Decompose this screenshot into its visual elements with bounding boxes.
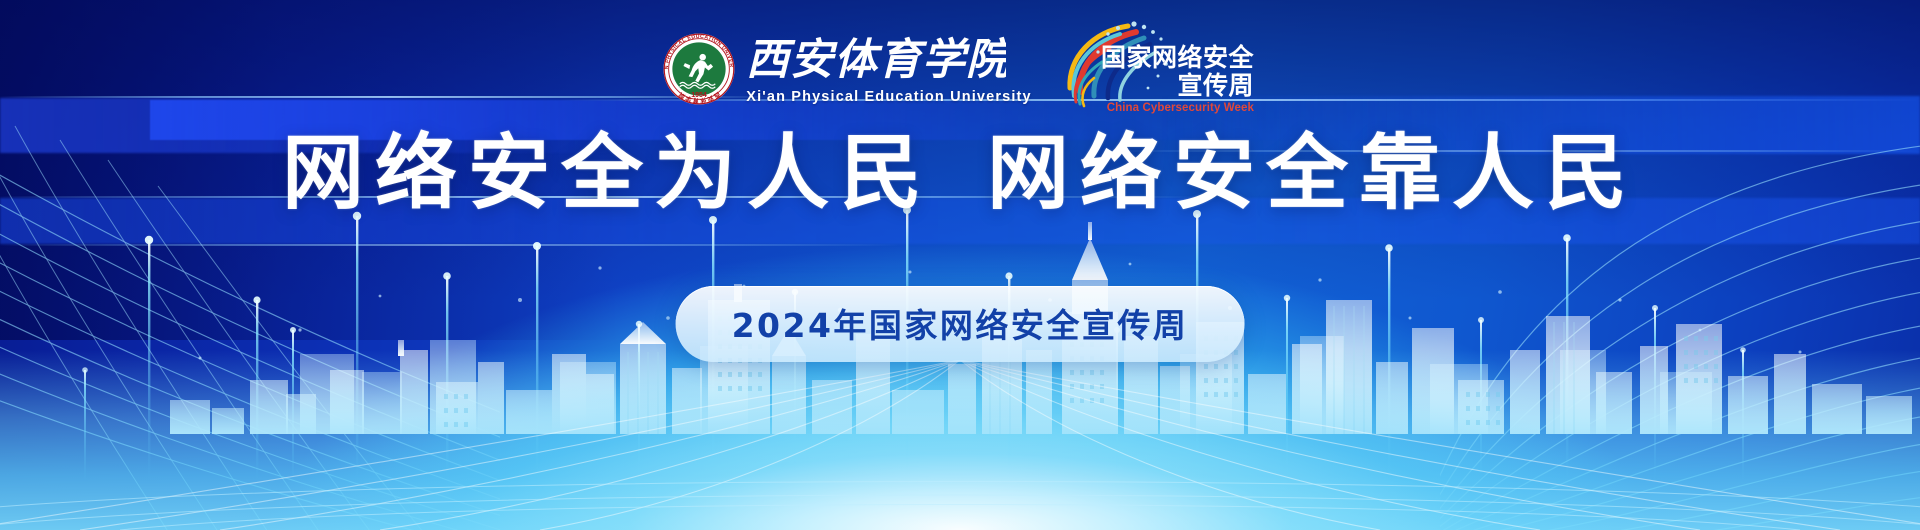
xaipe-seal-icon: XI'AN PHYSICAL EDUCATION UNIVERSITY 西安体育… xyxy=(662,32,736,106)
headline-left: 网络安全为人民 xyxy=(282,126,933,221)
svg-text:宣传周: 宣传周 xyxy=(1177,71,1254,100)
university-logo: XI'AN PHYSICAL EDUCATION UNIVERSITY 西安体育… xyxy=(662,30,1031,106)
university-name-cn: 西安体育学院 xyxy=(746,34,1031,86)
svg-text:1954: 1954 xyxy=(691,92,707,99)
cybersecurity-week-logo: 国家网络安全 宣传周 China Cybersecurity Week xyxy=(1058,18,1258,118)
svg-text:国家网络安全: 国家网络安全 xyxy=(1101,43,1255,72)
perspective-ground-glow xyxy=(0,350,1920,530)
university-name-en: Xi'an Physical Education University xyxy=(746,89,1031,105)
university-name-block: 西安体育学院 Xi'an Physical Education Universi… xyxy=(746,30,1031,105)
headline: 网络安全为人民网络安全靠人民 xyxy=(0,132,1920,216)
subtitle-pill: 2024年国家网络安全宣传周 xyxy=(676,286,1245,362)
svg-text:China Cybersecurity Week: China Cybersecurity Week xyxy=(1106,102,1254,114)
headline-right: 网络安全靠人民 xyxy=(987,126,1638,221)
cybersecurity-week-banner: XI'AN PHYSICAL EDUCATION UNIVERSITY 西安体育… xyxy=(0,0,1920,530)
svg-text:西安体育学院: 西安体育学院 xyxy=(746,35,1006,85)
logo-row: XI'AN PHYSICAL EDUCATION UNIVERSITY 西安体育… xyxy=(0,18,1920,118)
